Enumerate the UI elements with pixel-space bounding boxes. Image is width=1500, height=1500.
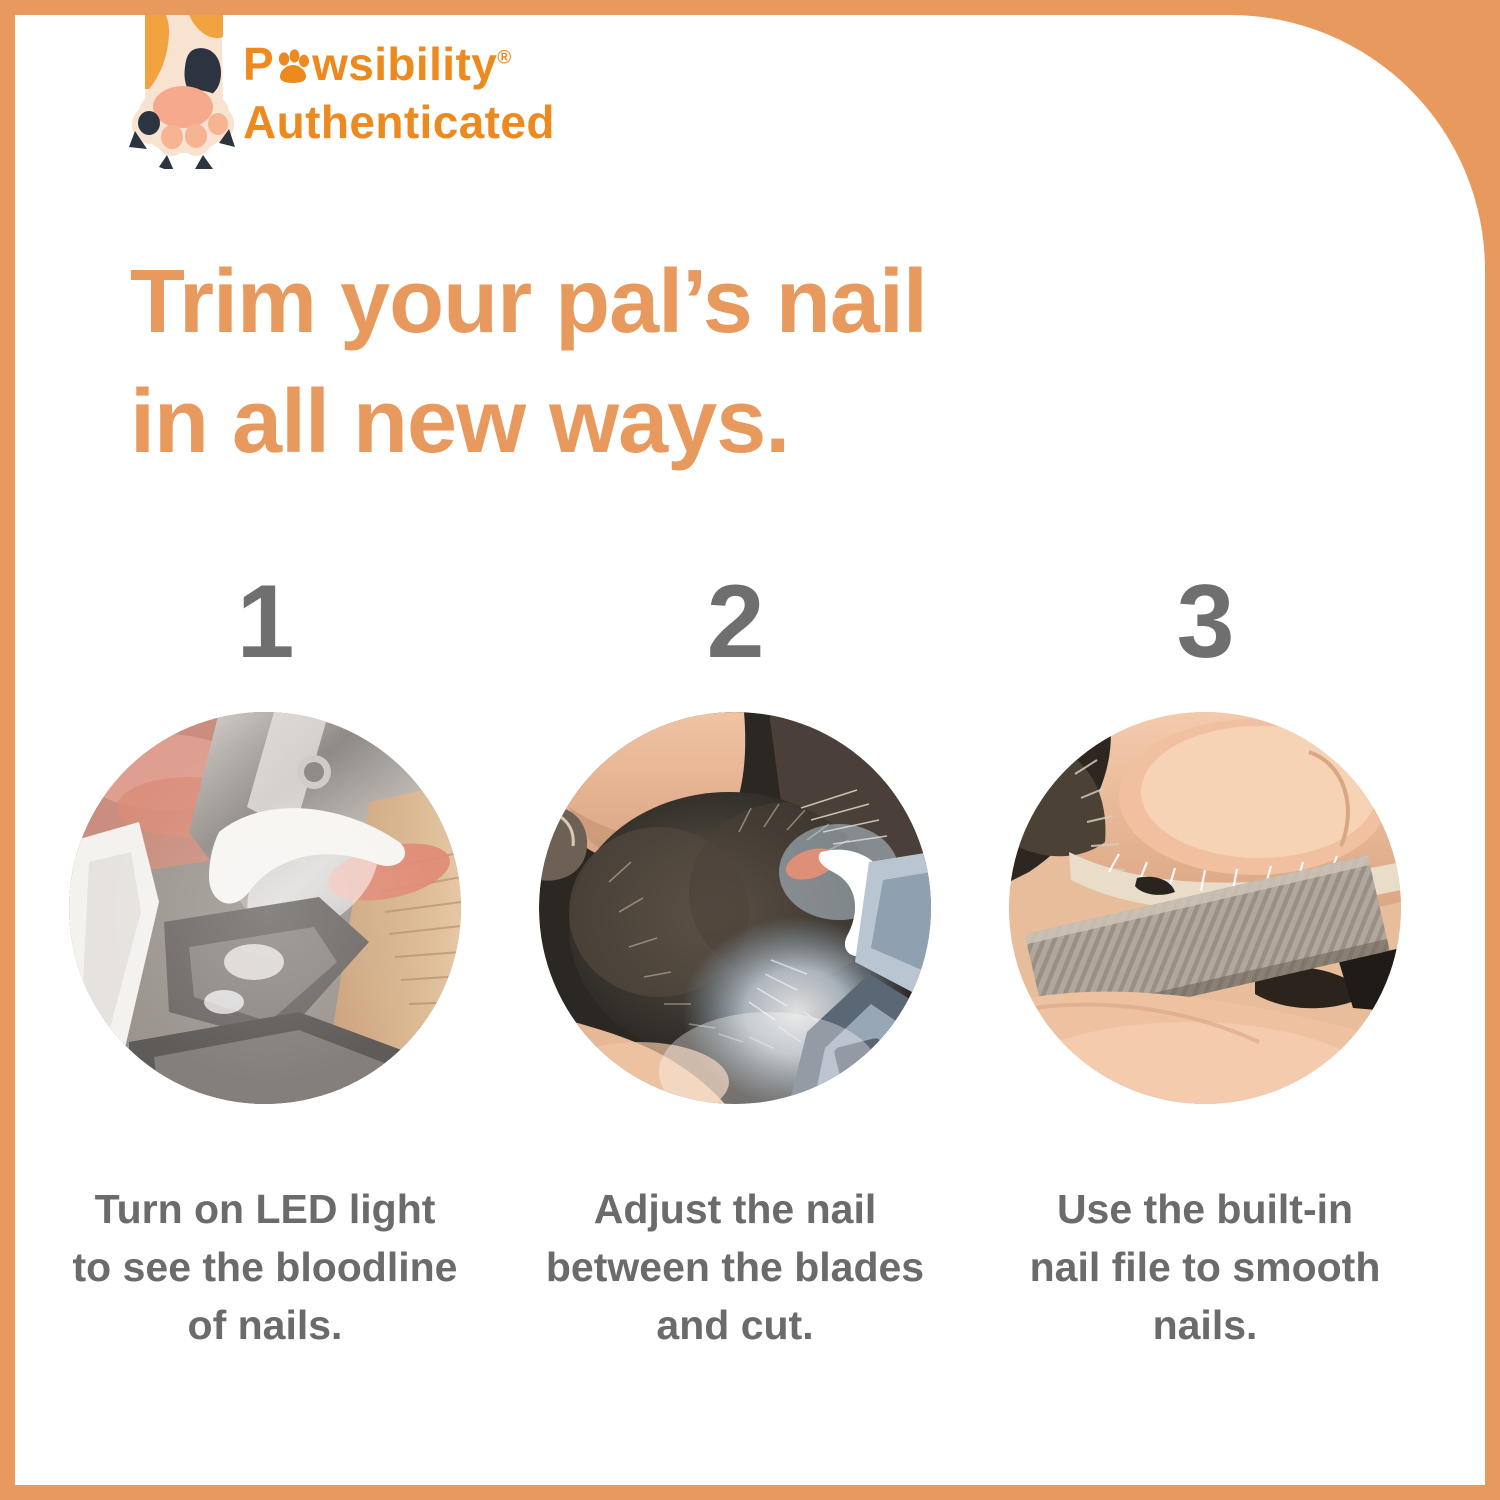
steps-row: 1 <box>30 570 1485 1355</box>
step-caption-line: between the blades <box>520 1238 950 1296</box>
step-caption-line: Turn on LED light <box>50 1180 480 1238</box>
page-headline: Trim your pal’s nail in all new ways. <box>130 243 1130 482</box>
step-number: 1 <box>237 570 294 690</box>
registered-trademark-icon: ® <box>497 48 511 69</box>
step-caption: Adjust the nail between the blades and c… <box>520 1180 950 1355</box>
brand-name-part-p: P <box>243 38 274 90</box>
step-caption-line: nail file to smooth <box>990 1238 1420 1296</box>
step-caption-line: Adjust the nail <box>520 1180 950 1238</box>
step-item: 3 <box>970 570 1440 1355</box>
headline-line-1: Trim your pal’s nail <box>130 243 1130 363</box>
step-photo-led-bloodline <box>69 712 461 1104</box>
step-caption-line: of nails. <box>50 1296 480 1354</box>
step-number: 2 <box>707 570 764 690</box>
step-caption-line: nails. <box>990 1296 1420 1354</box>
step-photo-adjust-nail <box>539 712 931 1104</box>
brand-name-line1: P wsibility® <box>243 41 673 87</box>
poster-inner-panel: P wsibility® Authenticated Trim your pal… <box>15 15 1485 1485</box>
brand-wordmark: P wsibility® Authenticated <box>243 41 673 145</box>
step-caption: Turn on LED light to see the bloodline o… <box>50 1180 480 1355</box>
brand-name-part-rest: wsibility <box>312 38 497 90</box>
step-item: 2 <box>500 570 970 1355</box>
step-number: 3 <box>1177 570 1234 690</box>
step-caption-line: and cut. <box>520 1296 950 1354</box>
brand-logo: P wsibility® Authenticated <box>115 15 675 190</box>
step-photo-nail-file <box>1009 712 1401 1104</box>
cat-paw-hanging-icon <box>125 15 243 169</box>
step-caption-line: Use the built-in <box>990 1180 1420 1238</box>
step-item: 1 <box>30 570 500 1355</box>
poster-root: P wsibility® Authenticated Trim your pal… <box>0 0 1500 1500</box>
step-caption: Use the built-in nail file to smooth nai… <box>990 1180 1420 1355</box>
step-caption-line: to see the bloodline <box>50 1238 480 1296</box>
brand-tagline-authenticated: Authenticated <box>243 99 673 145</box>
paw-print-icon <box>273 47 313 87</box>
headline-line-2: in all new ways. <box>130 363 1130 483</box>
